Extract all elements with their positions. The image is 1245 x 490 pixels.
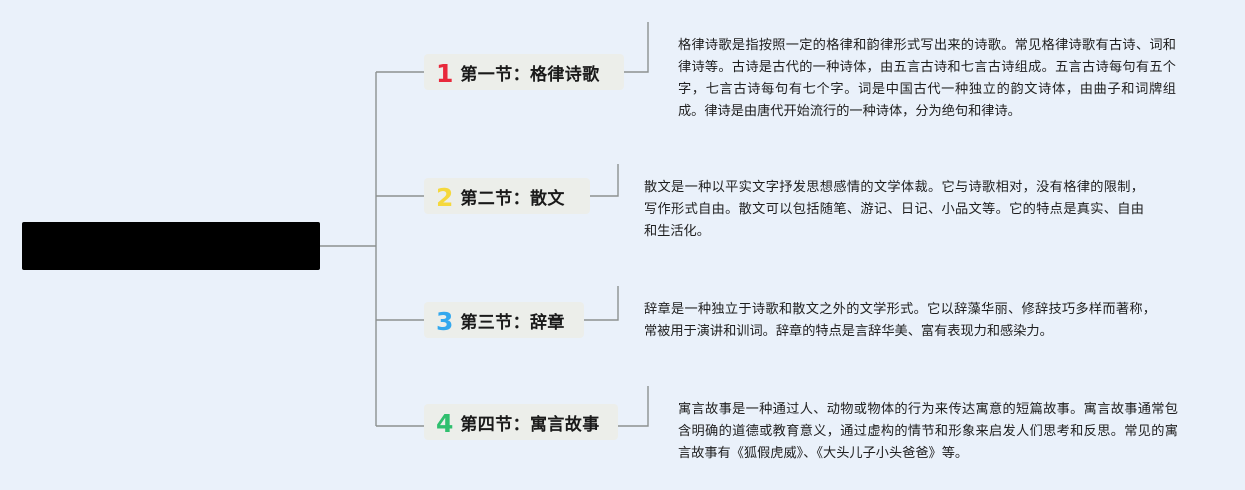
branch-detail-3: 辞章是一种独立于诗歌和散文之外的文学形式。它以辞藻华丽、修辞技巧多样而著称，常被… xyxy=(644,298,1156,342)
branch-number-3: 3 xyxy=(436,309,453,334)
branch-node-2[interactable]: 2 第二节：散文 xyxy=(424,178,590,214)
branch-detail-1: 格律诗歌是指按照一定的格律和韵律形式写出来的诗歌。常见格律诗歌有古诗、词和律诗等… xyxy=(678,34,1176,122)
branch-title-2: 第二节：散文 xyxy=(460,184,564,209)
branch-title-1: 第一节：格律诗歌 xyxy=(460,60,599,85)
mindmap-canvas: 1 第一节：格律诗歌 格律诗歌是指按照一定的格律和韵律形式写出来的诗歌。常见格律… xyxy=(0,0,1245,490)
branch-detail-4: 寓言故事是一种通过人、动物或物体的行为来传达寓意的短篇故事。寓言故事通常包含明确… xyxy=(678,398,1178,464)
branch-title-3: 第三节：辞章 xyxy=(460,308,564,333)
branch-node-4[interactable]: 4 第四节：寓言故事 xyxy=(424,404,618,440)
branch-detail-2: 散文是一种以平实文字抒发思想感情的文学体裁。它与诗歌相对，没有格律的限制，写作形… xyxy=(644,176,1144,242)
branch-number-4: 4 xyxy=(436,411,453,436)
branch-number-1: 1 xyxy=(436,61,453,86)
branch-node-1[interactable]: 1 第一节：格律诗歌 xyxy=(424,54,624,90)
branch-number-2: 2 xyxy=(436,185,453,210)
branch-node-3[interactable]: 3 第三节：辞章 xyxy=(424,302,584,338)
branch-title-4: 第四节：寓言故事 xyxy=(460,410,599,435)
root-node-redacted[interactable] xyxy=(22,222,320,270)
